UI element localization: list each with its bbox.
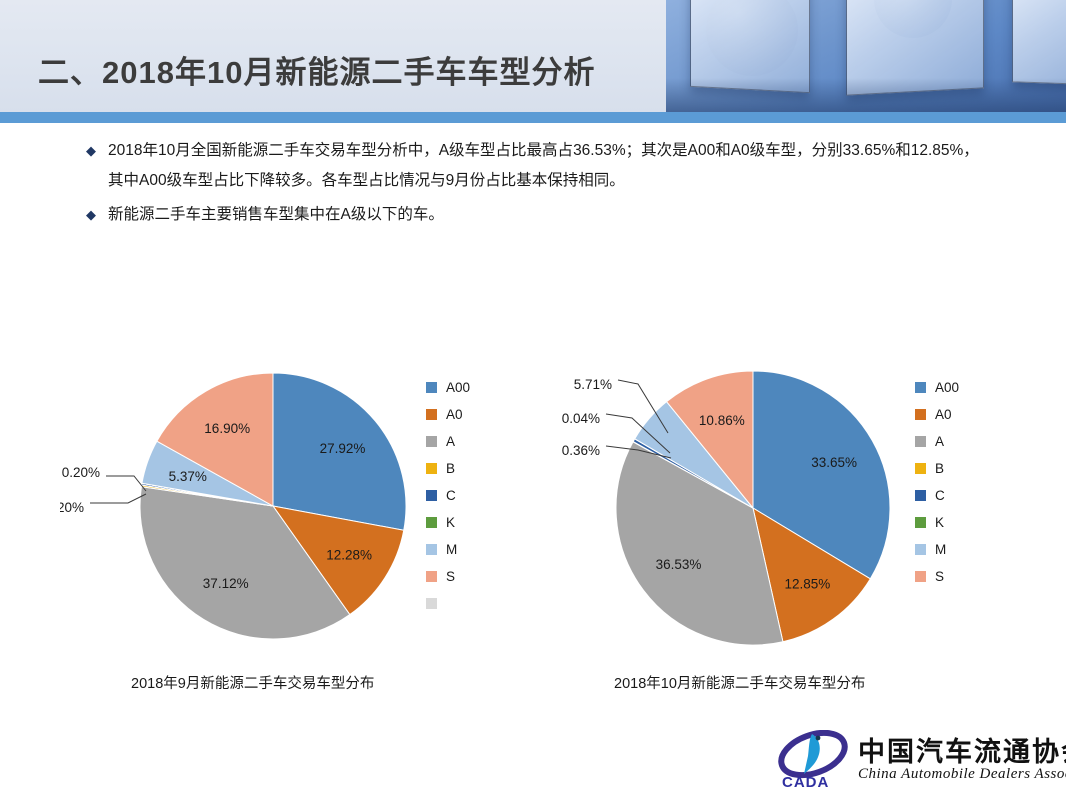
cada-chinese-name: 中国汽车流通协会 [858,730,1066,769]
pie-slice-label-A0: 12.28% [326,548,372,563]
legend-swatch-icon [426,409,437,420]
legend-item-label: A00 [446,380,470,395]
decorative-shadow [666,78,1066,112]
legend-item-label: M [446,542,457,557]
legend-item-label: K [935,515,944,530]
page-title: 二、2018年10月新能源二手车车型分析 [38,47,595,92]
pie-callout-label-C: 0.20% [60,500,84,515]
legend-item-A[interactable]: A [426,428,470,455]
diamond-bullet-icon: ◆ [86,136,108,166]
legend-item-label: A0 [935,407,952,422]
pie-slice-label-S: 16.90% [204,421,250,436]
pie-slice-label-A: 37.12% [203,576,249,591]
list-item: ◆ 新能源二手车主要销售车型集中在A级以下的车。 [86,200,986,230]
legend-swatch-icon [426,463,437,474]
legend-item-unlabeled[interactable] [426,590,470,617]
pie-slice-label-A00: 33.65% [811,455,857,470]
legend-item-S[interactable]: S [426,563,470,590]
legend-item-B[interactable]: B [915,455,959,482]
legend-item-label: B [446,461,455,476]
pie-chart-october: 33.65%12.85%36.53%10.86%5.71%0.04%0.36% … [540,360,1010,660]
legend-swatch-icon [915,571,926,582]
legend-swatch-icon [915,490,926,501]
list-item-text: 2018年10月全国新能源二手车交易车型分析中，A级车型占比最高占36.53%；… [108,136,986,196]
legend-item-label: B [935,461,944,476]
pie-slice-label-A: 36.53% [656,557,702,572]
cada-english-name: China Automobile Dealers Association [858,766,1066,783]
chart-caption-september: 2018年9月新能源二手车交易车型分布 [131,672,374,693]
decorative-cube [1012,0,1066,86]
legend-item-label: A [935,434,944,449]
legend-swatch-icon [915,544,926,555]
legend-swatch-icon [426,544,437,555]
legend-item-label: A00 [935,380,959,395]
cada-logo: CADA 中国汽车流通协会 China Automobile Dealers A… [778,730,1060,792]
header-accent-bar [0,112,1066,123]
list-item-text: 新能源二手车主要销售车型集中在A级以下的车。 [108,200,986,230]
bullet-list: ◆ 2018年10月全国新能源二手车交易车型分析中，A级车型占比最高占36.53… [86,136,986,234]
legend-swatch-icon [915,517,926,528]
pie-callout-label-C: 0.36% [562,443,600,458]
legend-item-A00[interactable]: A00 [426,374,470,401]
legend-swatch-icon [915,382,926,393]
cada-abbr: CADA [782,774,829,791]
legend-item-M[interactable]: M [426,536,470,563]
pie-callout-label-M: 5.71% [574,377,612,392]
pie-leader-line [90,494,146,503]
chart-legend-september: A00A0ABCKMS [426,374,470,617]
legend-item-label: M [935,542,946,557]
pie-callout-label-B: 0.20% [62,465,100,480]
legend-item-label: K [446,515,455,530]
legend-item-M[interactable]: M [915,536,959,563]
legend-item-C[interactable]: C [915,482,959,509]
pie-leader-line [106,476,146,491]
pie-slice-label-M: 5.37% [169,469,207,484]
legend-item-label: S [935,569,944,584]
legend-swatch-icon [426,517,437,528]
legend-item-B[interactable]: B [426,455,470,482]
pie-slice-label-A0: 12.85% [785,577,831,592]
legend-swatch-icon [426,382,437,393]
legend-item-K[interactable]: K [915,509,959,536]
legend-swatch-icon [915,436,926,447]
legend-item-label: A0 [446,407,463,422]
legend-item-C[interactable]: C [426,482,470,509]
pie-slice-label-S: 10.86% [699,413,745,428]
legend-item-A0[interactable]: A0 [426,401,470,428]
diamond-bullet-icon: ◆ [86,200,108,230]
legend-item-A00[interactable]: A00 [915,374,959,401]
cada-emblem-icon [778,730,848,780]
pie-chart-plot-area: 27.92%12.28%37.12%5.37%16.90%0.20%0.20% … [60,360,490,660]
legend-item-label: S [446,569,455,584]
legend-item-label: C [446,488,456,503]
legend-item-S[interactable]: S [915,563,959,590]
legend-swatch-icon [426,571,437,582]
list-item: ◆ 2018年10月全国新能源二手车交易车型分析中，A级车型占比最高占36.53… [86,136,986,196]
legend-item-K[interactable]: K [426,509,470,536]
chart-caption-october: 2018年10月新能源二手车交易车型分布 [614,672,865,693]
pie-slice-label-A00: 27.92% [320,441,366,456]
header-decoration-image [666,0,1066,112]
legend-swatch-icon [915,409,926,420]
legend-item-label: C [935,488,945,503]
legend-item-label: A [446,434,455,449]
legend-swatch-icon [426,598,437,609]
legend-item-A[interactable]: A [915,428,959,455]
legend-item-A0[interactable]: A0 [915,401,959,428]
slide-header: 二、2018年10月新能源二手车车型分析 [0,0,1066,112]
pie-callout-label-B: 0.04% [562,411,600,426]
pie-chart-september: 27.92%12.28%37.12%5.37%16.90%0.20%0.20% … [60,360,490,660]
legend-swatch-icon [426,490,437,501]
pie-chart-plot-area: 33.65%12.85%36.53%10.86%5.71%0.04%0.36% … [540,360,1010,660]
legend-swatch-icon [915,463,926,474]
legend-swatch-icon [426,436,437,447]
chart-legend-october: A00A0ABCKMS [915,374,959,590]
